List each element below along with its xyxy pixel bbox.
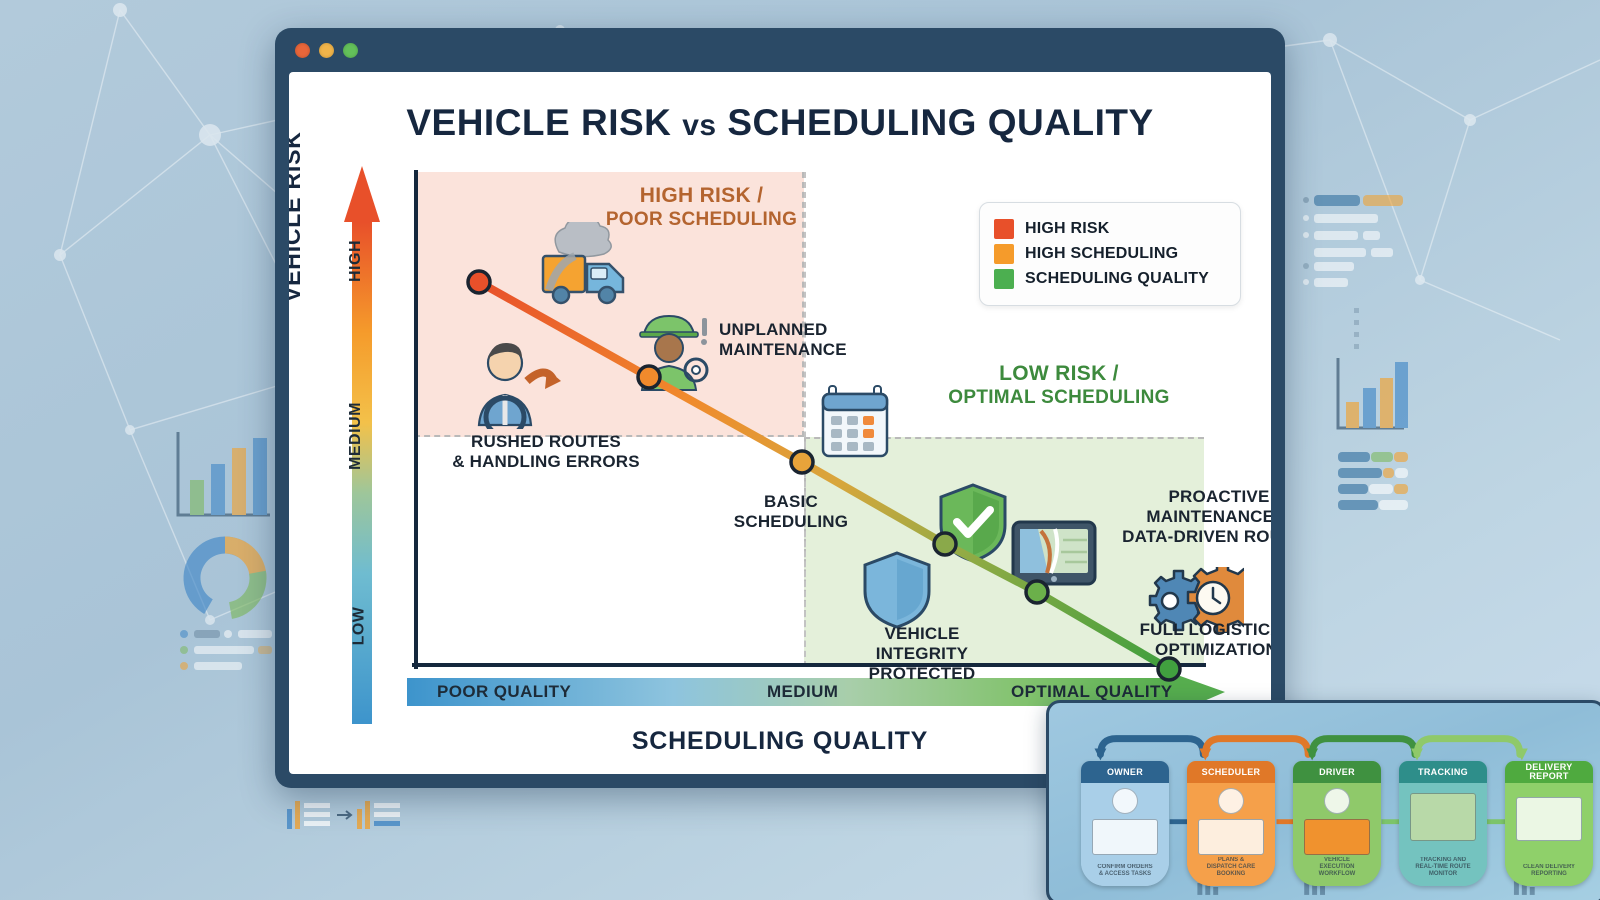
title-part-main: VEHICLE RISK — [406, 102, 671, 143]
workflow-card-scheduler-body: PLANS & DISPATCH CARE BOOKING — [1187, 783, 1275, 886]
workflow-card-delivery-report-sub: CLEAN DELIVERY REPORTING — [1508, 864, 1590, 878]
x-tick-medium: MEDIUM — [767, 682, 838, 702]
decor-left-charts — [170, 420, 280, 670]
legend-item-high-risk[interactable]: HIGH RISK — [994, 219, 1226, 239]
workflow-card-delivery-report-body: CLEAN DELIVERY REPORTING — [1505, 783, 1593, 886]
gps-tablet-icon — [1011, 520, 1097, 592]
workflow-card-driver-body: VEHICLE EXECUTION WORKFLOW — [1293, 783, 1381, 886]
decor-bottom-icons — [285, 795, 425, 839]
page-title: VEHICLE RISK vs SCHEDULING QUALITY — [289, 102, 1271, 144]
title-part-vs: vs — [682, 109, 716, 142]
workflow-card-tracking-body: TRACKING AND REAL-TIME ROUTE MONITOR — [1399, 783, 1487, 886]
annotation-basic-scheduling: BASIC SCHEDULING — [726, 492, 856, 532]
workflow-inset-panel[interactable]: OWNER CONFIRM ORDERS & ACCESS TASKS SCHE… — [1046, 700, 1600, 900]
annotation-proactive-maintenance: PROACTIVE MAINTENANCE & DATA-DRIVEN ROUT… — [1119, 487, 1271, 547]
decor-dots — [1354, 308, 1359, 349]
workflow-card-driver-title: DRIVER — [1293, 761, 1381, 783]
maintenance-worker-icon — [636, 310, 714, 392]
shield-check-icon — [937, 482, 1009, 564]
decor-progress-bars — [1338, 452, 1408, 510]
annotation-full-optimization: FULL LOGISTICAL OPTIMIZATION — [1129, 620, 1271, 660]
decor-bar-chart-right — [1338, 358, 1408, 428]
browser-window: VEHICLE RISK vs SCHEDULING QUALITY HIGH … — [275, 28, 1285, 788]
chart-legend: HIGH RISK HIGH SCHEDULING SCHEDULING QUA… — [979, 202, 1241, 306]
quadrant-lr-line1: LOW RISK / — [914, 362, 1204, 387]
workflow-card-scheduler-title: SCHEDULER — [1187, 761, 1275, 783]
legend-swatch-high-risk — [994, 219, 1014, 239]
legend-swatch-scheduling-quality — [994, 269, 1014, 289]
legend-item-scheduling-quality[interactable]: SCHEDULING QUALITY — [994, 269, 1226, 289]
x-tick-optimal-quality: OPTIMAL QUALITY — [1011, 682, 1173, 702]
owner-avatar-icon — [1112, 788, 1138, 814]
quadrant-lr-line2: OPTIMAL SCHEDULING — [914, 387, 1204, 409]
annotation-rushed-routes: RUSHED ROUTES & HANDLING ERRORS — [431, 432, 661, 472]
quadrant-label-low-risk: LOW RISK / OPTIMAL SCHEDULING — [914, 362, 1204, 409]
workflow-card-tracking-sub: TRACKING AND REAL-TIME ROUTE MONITOR — [1402, 857, 1484, 878]
workflow-card-tracking[interactable]: TRACKING TRACKING AND REAL-TIME ROUTE MO… — [1399, 761, 1487, 886]
workflow-card-scheduler[interactable]: SCHEDULER PLANS & DISPATCH CARE BOOKING — [1187, 761, 1275, 886]
workflow-card-owner[interactable]: OWNER CONFIRM ORDERS & ACCESS TASKS — [1081, 761, 1169, 886]
y-tick-high: HIGH — [347, 240, 365, 282]
annotation-unplanned-maintenance: UNPLANNED MAINTENANCE — [719, 320, 894, 360]
shield-icon — [861, 550, 933, 630]
decor-right-charts — [1300, 190, 1410, 530]
maximize-button[interactable] — [343, 43, 358, 58]
workflow-card-tracking-title: TRACKING — [1399, 761, 1487, 783]
quadrant-hr-line1: HIGH RISK / — [594, 184, 809, 209]
workflow-card-owner-sub: CONFIRM ORDERS & ACCESS TASKS — [1084, 864, 1166, 878]
decor-list-rows — [180, 630, 272, 670]
minimize-button[interactable] — [319, 43, 334, 58]
workflow-card-driver-sub: VEHICLE EXECUTION WORKFLOW — [1296, 857, 1378, 878]
decor-list-top — [1303, 195, 1403, 287]
annotation-vehicle-integrity: VEHICLE INTEGRITY PROTECTED — [847, 624, 997, 684]
title-part-tail: SCHEDULING QUALITY — [727, 102, 1153, 143]
legend-label-high-risk: HIGH RISK — [1025, 220, 1109, 238]
decor-bar-chart — [178, 432, 270, 515]
driver-avatar-icon — [1324, 788, 1350, 814]
legend-label-scheduling-quality: SCHEDULING QUALITY — [1025, 270, 1209, 288]
workflow-card-scheduler-sub: PLANS & DISPATCH CARE BOOKING — [1190, 857, 1272, 878]
x-axis-line — [412, 663, 1206, 667]
calendar-icon — [819, 382, 891, 460]
decor-donut-chart — [180, 533, 270, 623]
chart-canvas: VEHICLE RISK vs SCHEDULING QUALITY HIGH … — [289, 72, 1271, 774]
legend-swatch-high-scheduling — [994, 244, 1014, 264]
scheduler-avatar-icon — [1218, 788, 1244, 814]
x-tick-poor-quality: POOR QUALITY — [437, 682, 571, 702]
owner-screen-icon — [1092, 819, 1158, 855]
smoking-truck-icon — [529, 222, 649, 312]
y-axis-line — [414, 170, 418, 669]
y-tick-medium: MEDIUM — [347, 402, 365, 470]
y-axis-title: VEHICLE RISK — [289, 131, 306, 302]
stressed-driver-icon — [469, 337, 561, 429]
delivery-report-screen-icon — [1516, 797, 1582, 841]
legend-item-high-scheduling[interactable]: HIGH SCHEDULING — [994, 244, 1226, 264]
legend-label-high-scheduling: HIGH SCHEDULING — [1025, 245, 1178, 263]
workflow-card-driver[interactable]: DRIVER VEHICLE EXECUTION WORKFLOW — [1293, 761, 1381, 886]
quadrant-divider-vertical — [804, 172, 806, 667]
y-tick-low: LOW — [350, 607, 368, 646]
close-button[interactable] — [295, 43, 310, 58]
tracking-map-icon — [1410, 793, 1476, 841]
window-titlebar — [275, 28, 1285, 72]
driver-truck-icon — [1304, 819, 1370, 855]
scheduler-screen-icon — [1198, 819, 1264, 855]
workflow-card-owner-body: CONFIRM ORDERS & ACCESS TASKS — [1081, 783, 1169, 886]
workflow-card-delivery-report[interactable]: DELIVERY REPORT CLEAN DELIVERY REPORTING — [1505, 761, 1593, 886]
workflow-card-owner-title: OWNER — [1081, 761, 1169, 783]
workflow-card-delivery-report-title: DELIVERY REPORT — [1505, 761, 1593, 783]
